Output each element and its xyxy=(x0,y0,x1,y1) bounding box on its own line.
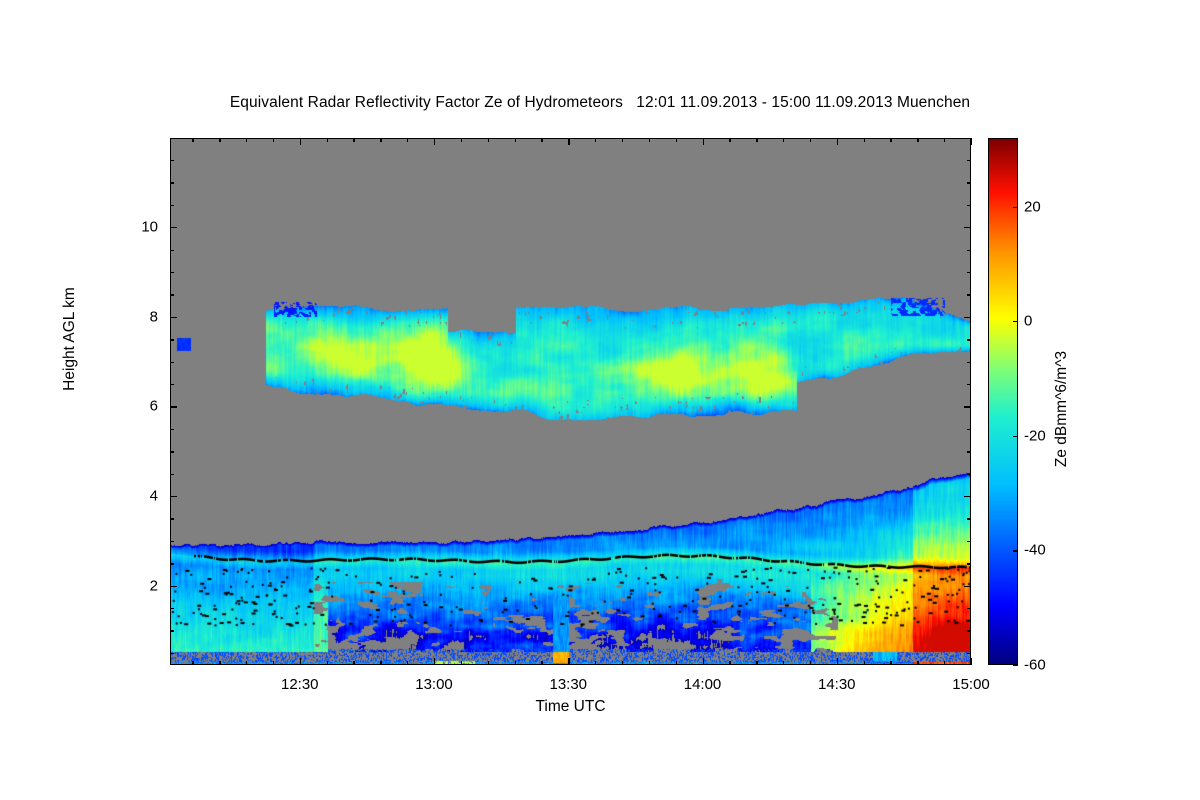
y-tick-right xyxy=(964,317,971,318)
y-tick xyxy=(170,227,177,228)
y-tick xyxy=(170,406,177,407)
x-tick xyxy=(756,661,757,665)
x-tick-top xyxy=(273,138,274,142)
x-tick xyxy=(461,661,462,665)
y-tick-right xyxy=(964,406,971,407)
y-tick-right xyxy=(967,451,971,452)
y-tick-label: 10 xyxy=(110,219,158,236)
colorbar-tick-label: -20 xyxy=(1024,427,1046,444)
y-tick-right xyxy=(967,429,971,430)
y-tick-right xyxy=(967,474,971,475)
y-tick xyxy=(170,205,174,206)
x-tick-label: 14:30 xyxy=(818,676,856,693)
y-tick xyxy=(170,518,174,519)
y-tick xyxy=(170,630,174,631)
y-tick xyxy=(170,541,174,542)
x-tick-top xyxy=(649,138,650,142)
y-tick-right xyxy=(967,518,971,519)
x-tick-top xyxy=(729,138,730,142)
y-tick-right xyxy=(967,362,971,363)
x-tick xyxy=(676,661,677,665)
x-tick-top xyxy=(192,138,193,142)
y-tick-right xyxy=(967,339,971,340)
x-tick-top xyxy=(756,138,757,142)
y-tick xyxy=(170,294,174,295)
x-tick-top xyxy=(568,138,569,145)
y-tick xyxy=(170,586,177,587)
x-tick xyxy=(890,661,891,665)
y-tick xyxy=(170,496,177,497)
x-tick-label: 12:30 xyxy=(281,676,319,693)
x-tick xyxy=(407,661,408,665)
x-tick-top xyxy=(810,138,811,142)
y-tick-label: 8 xyxy=(110,308,158,325)
x-tick xyxy=(703,658,704,665)
x-tick-label: 13:00 xyxy=(415,676,453,693)
x-tick xyxy=(568,658,569,665)
x-tick xyxy=(273,661,274,665)
x-tick-top xyxy=(461,138,462,142)
y-tick xyxy=(170,317,177,318)
x-tick xyxy=(917,661,918,665)
y-tick-right xyxy=(967,541,971,542)
y-tick-right xyxy=(967,250,971,251)
x-tick-top xyxy=(703,138,704,145)
x-tick xyxy=(649,661,650,665)
x-tick-top xyxy=(676,138,677,142)
radar-reflectivity-figure: Equivalent Radar Reflectivity Factor Ze … xyxy=(0,0,1200,800)
x-axis-label: Time UTC xyxy=(170,698,971,716)
x-tick xyxy=(783,661,784,665)
colorbar-gradient xyxy=(988,138,1018,665)
y-tick-right xyxy=(967,294,971,295)
y-tick-right xyxy=(964,496,971,497)
colorbar[interactable] xyxy=(988,138,1018,665)
x-tick xyxy=(246,661,247,665)
x-tick xyxy=(729,661,730,665)
y-tick xyxy=(170,160,174,161)
x-tick-top xyxy=(783,138,784,142)
y-tick xyxy=(170,608,174,609)
x-tick xyxy=(810,661,811,665)
x-tick xyxy=(864,661,865,665)
y-tick-label: 2 xyxy=(110,577,158,594)
y-tick xyxy=(170,250,174,251)
y-tick-right xyxy=(967,160,971,161)
x-tick-top xyxy=(971,138,972,145)
colorbar-tick-label: 20 xyxy=(1024,198,1041,215)
x-tick xyxy=(595,661,596,665)
x-tick xyxy=(380,661,381,665)
x-tick xyxy=(219,661,220,665)
y-tick-right xyxy=(967,630,971,631)
x-tick xyxy=(192,661,193,665)
colorbar-tick xyxy=(1013,550,1018,551)
page-title: Equivalent Radar Reflectivity Factor Ze … xyxy=(0,94,1200,112)
x-tick xyxy=(541,661,542,665)
x-tick-top xyxy=(864,138,865,142)
y-tick-right xyxy=(967,205,971,206)
colorbar-tick-label: -40 xyxy=(1024,542,1046,559)
y-tick xyxy=(170,429,174,430)
colorbar-tick xyxy=(1013,321,1018,322)
x-tick xyxy=(434,658,435,665)
y-tick-label: 4 xyxy=(110,488,158,505)
x-tick xyxy=(944,661,945,665)
y-tick xyxy=(170,653,174,654)
colorbar-tick-label: 0 xyxy=(1024,313,1032,330)
y-tick xyxy=(170,339,174,340)
x-tick-top xyxy=(434,138,435,145)
x-tick-top xyxy=(541,138,542,142)
y-axis-label: Height AGL km xyxy=(61,229,79,449)
colorbar-tick xyxy=(1013,436,1018,437)
y-tick xyxy=(170,474,174,475)
x-tick-top xyxy=(595,138,596,142)
y-tick-right xyxy=(967,608,971,609)
reflectivity-heatmap-canvas xyxy=(171,139,971,665)
y-tick-right xyxy=(967,182,971,183)
y-tick xyxy=(170,384,174,385)
x-tick xyxy=(488,661,489,665)
x-tick-top xyxy=(300,138,301,145)
y-tick-right xyxy=(967,384,971,385)
x-tick xyxy=(622,661,623,665)
y-tick xyxy=(170,272,174,273)
x-tick xyxy=(971,658,972,665)
x-tick xyxy=(353,661,354,665)
x-tick-top xyxy=(515,138,516,142)
x-tick-top xyxy=(380,138,381,142)
y-tick-right xyxy=(964,227,971,228)
x-tick-top xyxy=(917,138,918,142)
x-tick-top xyxy=(890,138,891,142)
colorbar-tick-label: -60 xyxy=(1024,657,1046,674)
colorbar-tick xyxy=(1013,665,1018,666)
x-tick-top xyxy=(407,138,408,142)
x-tick xyxy=(837,658,838,665)
y-tick-right xyxy=(967,272,971,273)
y-tick-right xyxy=(967,653,971,654)
y-tick xyxy=(170,182,174,183)
y-tick xyxy=(170,362,174,363)
x-tick-top xyxy=(327,138,328,142)
y-tick xyxy=(170,563,174,564)
y-tick xyxy=(170,451,174,452)
x-tick-top xyxy=(219,138,220,142)
x-tick-label: 13:30 xyxy=(549,676,587,693)
colorbar-tick xyxy=(1013,207,1018,208)
x-tick xyxy=(300,658,301,665)
x-tick-top xyxy=(837,138,838,145)
x-tick-label: 14:00 xyxy=(684,676,722,693)
y-tick-label: 6 xyxy=(110,398,158,415)
x-tick-top xyxy=(353,138,354,142)
colorbar-label: Ze dBmm^6/m^3 xyxy=(1053,299,1071,519)
x-tick xyxy=(515,661,516,665)
x-tick-top xyxy=(622,138,623,142)
x-tick-top xyxy=(246,138,247,142)
plot-area[interactable] xyxy=(170,138,971,665)
y-tick-right xyxy=(967,563,971,564)
x-tick xyxy=(327,661,328,665)
x-tick-top xyxy=(488,138,489,142)
x-tick-label: 15:00 xyxy=(952,676,990,693)
x-tick-top xyxy=(944,138,945,142)
y-tick-right xyxy=(964,586,971,587)
